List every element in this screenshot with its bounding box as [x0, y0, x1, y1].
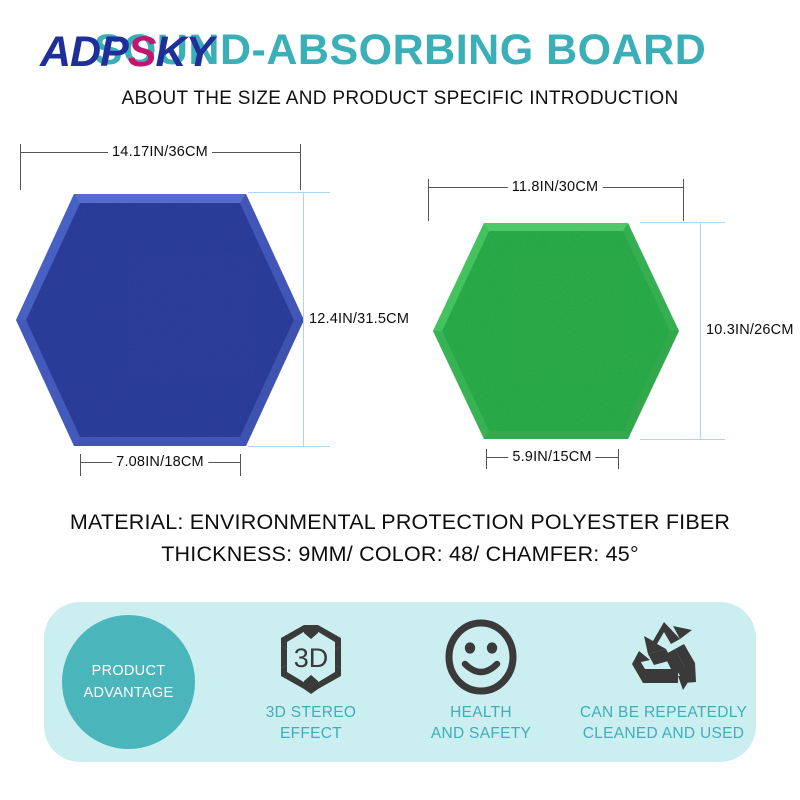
green-hexagon [430, 220, 682, 442]
blue-width-tick-right [300, 144, 301, 190]
advantage-label-health-safety: HEALTH AND SAFETY [431, 702, 531, 744]
spec-text-block: MATERIAL: ENVIRONMENTAL PROTECTION POLYE… [0, 506, 800, 570]
green-height-label: 10.3IN/26CM [702, 322, 798, 338]
advantage-label-3d-line-1: 3D STEREO [266, 702, 357, 723]
green-side-tick-right [618, 449, 619, 469]
header-title-block: SOUND-ABSORBING BOARD ADPSKY [0, 22, 800, 84]
green-height-ext-top [640, 222, 725, 223]
recycle-icon-svg [626, 620, 702, 694]
green-width-tick-left [428, 179, 429, 221]
dimension-diagrams: 14.17IN/36CM [0, 132, 800, 492]
smiley-face-icon [444, 618, 518, 696]
advantage-label-reusable-line-2: CLEANED AND USED [580, 723, 747, 744]
blue-side-tick-left [80, 454, 81, 476]
advantage-label-reusable-line-1: CAN BE REPEATEDLY [580, 702, 747, 723]
product-advantage-panel: PRODUCT ADVANTAGE [44, 602, 756, 762]
blue-width-tick-left [20, 144, 21, 190]
3d-hexagon-icon-svg: 3D [273, 619, 349, 695]
green-panel-diagram: 11.8IN/30CM [400, 132, 800, 492]
green-side-label: 5.9IN/15CM [508, 449, 595, 465]
green-width-tick-right [683, 179, 684, 221]
brand-logo-part-1: ADP [40, 28, 128, 76]
brand-logo-part-2: S [128, 28, 156, 76]
advantage-label-health-line-2: AND SAFETY [431, 723, 531, 744]
blue-hexagon [12, 190, 308, 450]
advantage-label-3d-line-2: EFFECT [266, 723, 357, 744]
green-height-dim-line [700, 222, 701, 439]
advantage-item-3d-stereo: 3D 3D STEREO EFFECT [216, 618, 406, 748]
spec-material-line: MATERIAL: ENVIRONMENTAL PROTECTION POLYE… [0, 506, 800, 538]
page-subtitle: ABOUT THE SIZE AND PRODUCT SPECIFIC INTR… [0, 88, 800, 110]
blue-side-tick-right [240, 454, 241, 476]
advantage-badge-line-2: ADVANTAGE [84, 682, 174, 704]
green-side-tick-left [486, 449, 487, 469]
green-width-label: 11.8IN/30CM [508, 179, 603, 195]
advantage-label-reusable: CAN BE REPEATEDLY CLEANED AND USED [580, 702, 747, 744]
blue-height-dim-line [303, 192, 304, 446]
spec-thickness-line: THICKNESS: 9MM/ COLOR: 48/ CHAMFER: 45° [0, 538, 800, 570]
blue-side-label: 7.08IN/18CM [112, 454, 208, 470]
blue-hexagon-svg [12, 190, 308, 450]
advantage-item-reusable: CAN BE REPEATEDLY CLEANED AND USED [556, 618, 771, 748]
smiley-face-icon-svg [444, 619, 518, 695]
brand-logo-part-3: KY [155, 28, 213, 76]
recycle-icon [626, 618, 702, 696]
product-advantage-badge: PRODUCT ADVANTAGE [62, 615, 195, 749]
blue-height-ext-top [248, 192, 330, 193]
green-hexagon-svg [430, 220, 682, 442]
blue-height-label: 12.4IN/31.5CM [305, 311, 413, 327]
product-infographic: SOUND-ABSORBING BOARD ADPSKY ABOUT THE S… [0, 0, 800, 800]
advantage-label-health-line-1: HEALTH [431, 702, 531, 723]
3d-hexagon-icon: 3D [273, 618, 349, 696]
advantage-label-3d-stereo: 3D STEREO EFFECT [266, 702, 357, 744]
green-height-ext-bottom [640, 439, 725, 440]
3d-icon-text: 3D [294, 643, 329, 673]
brand-logo: ADPSKY [40, 24, 213, 80]
blue-height-ext-bottom [248, 446, 330, 447]
advantage-item-health-safety: HEALTH AND SAFETY [386, 618, 576, 748]
blue-panel-diagram: 14.17IN/36CM [0, 132, 400, 492]
blue-width-label: 14.17IN/36CM [108, 144, 212, 160]
advantage-badge-line-1: PRODUCT [92, 660, 166, 682]
